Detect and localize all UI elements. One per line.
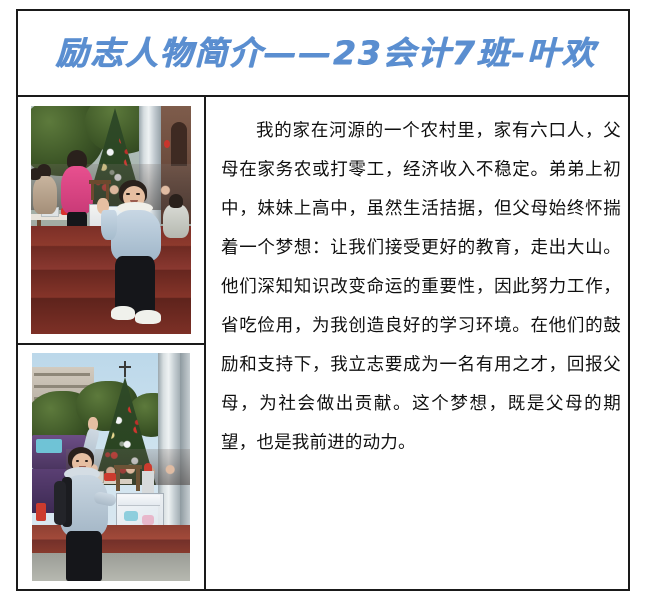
photo-cell-top <box>18 97 204 345</box>
document-page: 励志人物简介——23会计7班-叶欢 <box>16 9 630 591</box>
essay-column: 我的家在河源的一个农村里，家有六口人，父母在家务农或打零工，经济收入不稳定。弟弟… <box>206 97 628 589</box>
essay-body: 我的家在河源的一个农村里，家有六口人，父母在家务农或打零工，经济收入不稳定。弟弟… <box>221 111 621 462</box>
photo-column <box>18 97 206 589</box>
body-row: 我的家在河源的一个农村里，家有六口人，父母在家务农或打零工，经济收入不稳定。弟弟… <box>18 97 628 589</box>
page-title: 励志人物简介——23会计7班-叶欢 <box>50 37 597 69</box>
title-row: 励志人物简介——23会计7班-叶欢 <box>18 11 628 97</box>
photo-cell-bottom <box>18 345 204 589</box>
photo-student-sitting-on-steps <box>31 106 191 334</box>
photo-student-waving-by-christmas-tree <box>32 353 190 581</box>
